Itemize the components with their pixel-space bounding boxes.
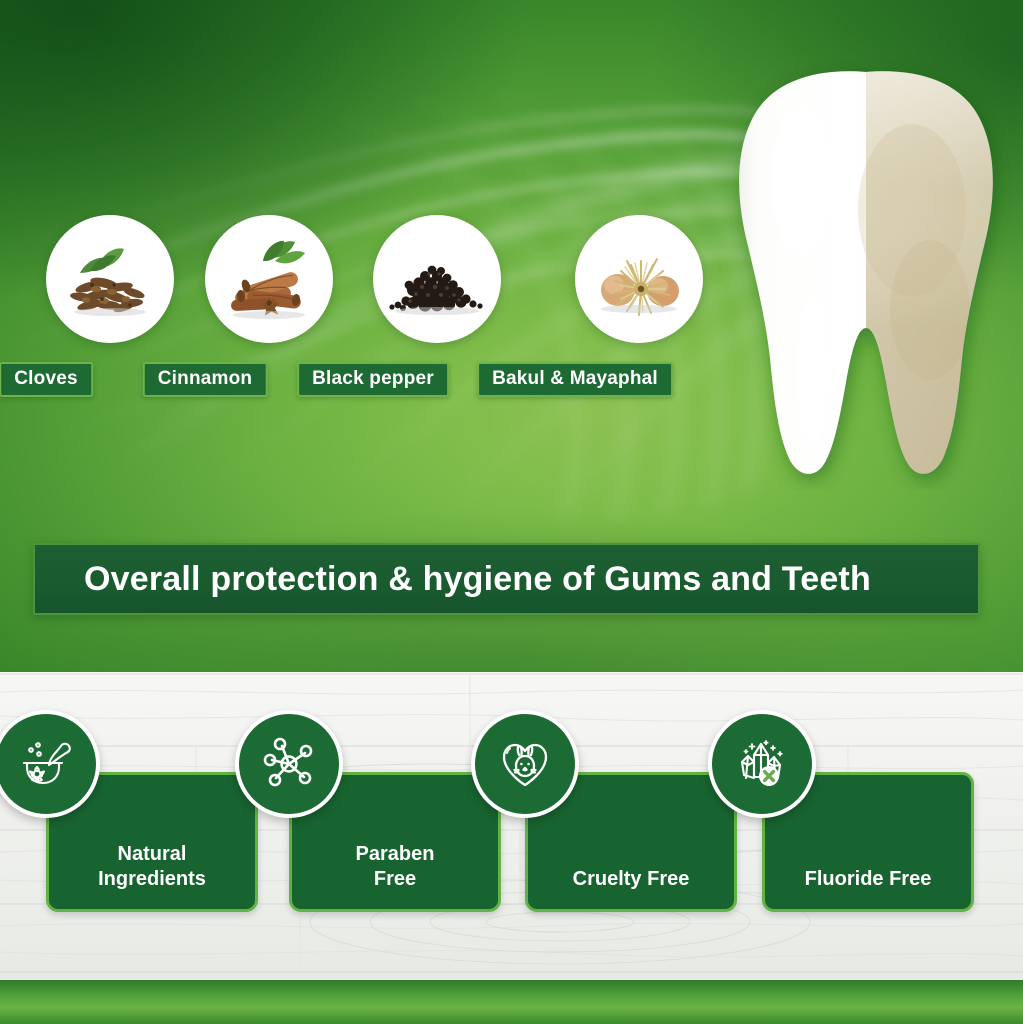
bottom-green-strip	[0, 980, 1023, 1024]
headline-banner: Overall protection & hygiene of Gums and…	[33, 543, 980, 615]
ingredient-label: Cinnamon	[143, 362, 268, 397]
ingredient-label: Cloves	[0, 362, 93, 397]
green-hero-section: Cloves	[0, 0, 1023, 672]
headline-text: Overall protection & hygiene of Gums and…	[35, 560, 871, 599]
product-infographic: Cloves	[0, 0, 1023, 1024]
crystals-no-icon	[708, 710, 816, 818]
feature-label: Paraben Free	[292, 842, 498, 893]
feature-label: Fluoride Free	[765, 867, 971, 893]
feature-label: Natural Ingredients	[49, 842, 255, 893]
ingredient-label: Bakul & Mayaphal	[477, 362, 673, 397]
bakul-mayaphal-photo-icon	[575, 215, 703, 343]
ingredient-label: Black pepper	[297, 362, 449, 397]
black-pepper-photo-icon	[373, 215, 501, 343]
cinnamon-photo-icon	[205, 215, 333, 343]
feature-label: Cruelty Free	[528, 867, 734, 893]
cloves-photo-icon	[46, 215, 174, 343]
rabbit-heart-icon	[471, 710, 579, 818]
molecule-icon	[235, 710, 343, 818]
ingredient-row: Cloves	[0, 0, 1023, 420]
